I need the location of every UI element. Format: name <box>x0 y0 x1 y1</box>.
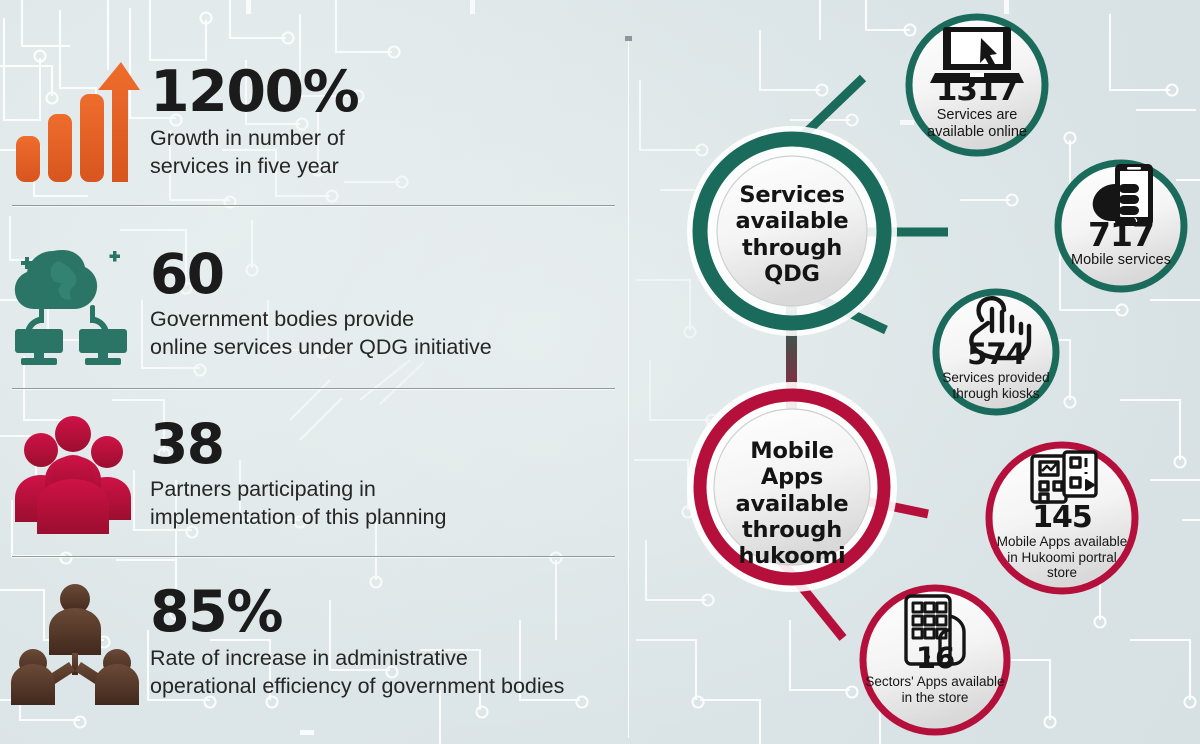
divider-3 <box>12 556 615 557</box>
stat-text-efficiency: 85% Rate of increase in administrative o… <box>150 585 628 700</box>
stat-description: Growth in number of services in five yea… <box>150 125 616 180</box>
network-diagram <box>628 0 1200 744</box>
left-statistics-column: 1200% Growth in number of services in fi… <box>0 0 628 744</box>
node-circle-145 <box>989 445 1135 591</box>
right-diagram-column: Services available through QDG Mobile Ap… <box>628 0 1200 744</box>
stat-row-efficiency: 85% Rate of increase in administrative o… <box>0 568 628 718</box>
divider-1 <box>12 205 615 206</box>
people-group-icon <box>0 414 150 536</box>
stat-value: 60 <box>150 248 616 302</box>
stat-text-government-bodies: 60 Government bodies provide online serv… <box>150 248 628 361</box>
node-circle-574 <box>936 292 1056 412</box>
stat-row-government-bodies: 60 Government bodies provide online serv… <box>0 230 628 380</box>
stat-row-growth: 1200% Growth in number of services in fi… <box>0 48 628 198</box>
infographic-root: 1200% Growth in number of services in fi… <box>0 0 1200 744</box>
stat-row-partners: 38 Partners participating in implementat… <box>0 400 628 550</box>
hub-disc-mobile <box>714 409 870 565</box>
stat-text-partners: 38 Partners participating in implementat… <box>150 418 628 531</box>
stat-description: Rate of increase in administrative opera… <box>150 645 616 700</box>
divider-2 <box>12 388 615 389</box>
stat-value: 38 <box>150 418 616 472</box>
org-hierarchy-people-icon <box>0 581 150 705</box>
stat-value: 1200% <box>150 65 616 121</box>
hub-disc-services <box>717 156 867 306</box>
stat-text-growth: 1200% Growth in number of services in fi… <box>150 65 628 180</box>
stat-description: Government bodies provide online service… <box>150 306 616 361</box>
stat-description: Partners participating in implementation… <box>150 476 616 531</box>
stat-value: 85% <box>150 585 616 641</box>
brain-computers-icon <box>0 243 150 367</box>
laptop-cursor-icon <box>930 27 1024 83</box>
bar-chart-growth-arrow-icon <box>0 60 150 186</box>
